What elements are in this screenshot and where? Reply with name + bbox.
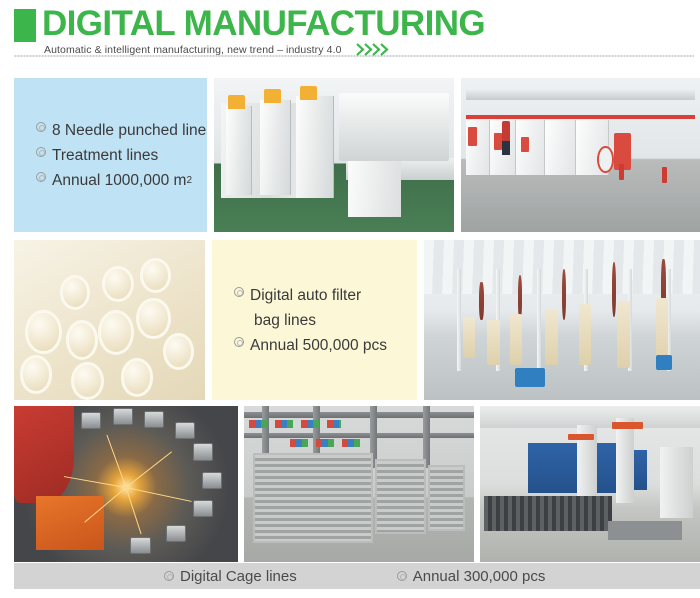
bullet-icon — [164, 571, 174, 581]
title-row: DIGITAL MANUFACTURING — [14, 6, 700, 42]
needle-punching-info-panel: 8 Needle punched lines Treatment lines A… — [14, 78, 207, 232]
panel-line-superscript: 2 — [186, 168, 192, 193]
panel-line: Annual 500,000 pcs — [234, 333, 417, 358]
panel-line-text: bag lines — [254, 308, 316, 333]
cage-coating-line-photo — [480, 406, 700, 562]
bullet-icon — [36, 147, 46, 157]
panel-line-text: Digital auto filter — [250, 283, 361, 308]
panel-line: Treatment lines — [36, 143, 207, 168]
header-dotted-divider — [14, 55, 694, 57]
section-needle-punching: 8 Needle punched lines Treatment lines A… — [14, 78, 700, 232]
filter-bags-photo — [14, 240, 205, 400]
bar-item-text: Digital Cage lines — [180, 568, 297, 585]
panel-line: bag lines — [234, 308, 417, 333]
panel-line-text: Annual 1000,000 m — [52, 168, 186, 193]
filter-bag-info-panel: Digital auto filter bag lines Annual 500… — [212, 240, 417, 400]
panel-line: Digital auto filter — [234, 283, 417, 308]
section-cage-lines — [14, 406, 700, 562]
bullet-icon — [36, 172, 46, 182]
bullet-icon — [234, 287, 244, 297]
panel-line-text: 8 Needle punched lines — [52, 118, 207, 143]
panel-line: 8 Needle punched lines — [36, 118, 207, 143]
cage-stacks-photo — [244, 406, 474, 562]
green-accent-block — [14, 9, 36, 42]
bottom-summary-bar: Digital Cage lines Annual 300,000 pcs — [14, 563, 700, 589]
bullet-icon — [36, 122, 46, 132]
filter-bag-sewing-hall-photo — [424, 240, 700, 400]
panel-line-text: Annual 500,000 pcs — [250, 333, 387, 358]
bullet-icon — [397, 571, 407, 581]
page-title: DIGITAL MANUFACTURING — [42, 6, 485, 42]
bar-item-text: Annual 300,000 pcs — [413, 568, 546, 585]
page-subtitle: Automatic & intelligent manufacturing, n… — [44, 44, 342, 56]
panel-line-text: Treatment lines — [52, 143, 158, 168]
panel-line: Annual 1000,000 m2 — [36, 168, 207, 193]
bar-item-digital-cage-lines: Digital Cage lines — [164, 568, 297, 585]
bullet-icon — [234, 337, 244, 347]
section-filter-bags: Digital auto filter bag lines Annual 500… — [14, 240, 700, 400]
bar-item-annual-output: Annual 300,000 pcs — [397, 568, 546, 585]
treatment-line-photo — [461, 78, 700, 232]
cage-welding-photo — [14, 406, 238, 562]
page-header: DIGITAL MANUFACTURING Automatic & intell… — [0, 0, 700, 60]
needle-punching-line-photo — [214, 78, 454, 232]
